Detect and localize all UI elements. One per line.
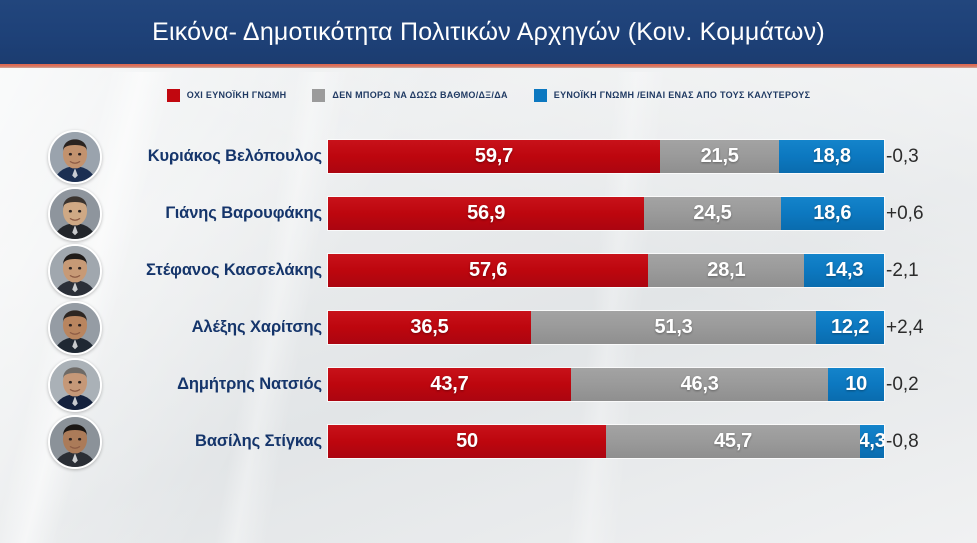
person-name: Βασίλης Στίγκας bbox=[110, 432, 322, 451]
bar-segment-negative: 43,7 bbox=[328, 368, 571, 401]
chart-row: Βασίλης Στίγκας5045,74,3-0,8 bbox=[0, 413, 977, 470]
stacked-bar: 57,628,114,3 bbox=[328, 254, 884, 287]
bar-segment-neutral: 28,1 bbox=[648, 254, 804, 287]
stacked-bar: 59,721,518,8 bbox=[328, 140, 884, 173]
bar-segment-positive: 10 bbox=[828, 368, 884, 401]
bar-segment-value: 50 bbox=[456, 430, 478, 453]
legend-swatch-icon bbox=[534, 89, 547, 102]
legend-label: ΔΕΝ ΜΠΟΡΩ ΝΑ ΔΩΣΩ ΒΑΘΜΟ/ΔΞ/ΔΑ bbox=[332, 90, 507, 100]
chart-row: Δημήτρης Νατσιός43,746,310-0,2 bbox=[0, 356, 977, 413]
bar-segment-value: 18,6 bbox=[813, 202, 851, 225]
legend-item-2: ΕΥΝΟΪΚΗ ΓΝΩΜΗ /ΕΙΝΑΙ ΕΝΑΣ ΑΠΟ ΤΟΥΣ ΚΑΛΥΤ… bbox=[534, 89, 811, 102]
bar-segment-neutral: 24,5 bbox=[644, 197, 780, 230]
avatar bbox=[48, 244, 102, 298]
bar-segment-positive: 18,8 bbox=[779, 140, 884, 173]
bar-segment-negative: 59,7 bbox=[328, 140, 660, 173]
chart-legend: ΟΧΙ ΕΥΝΟΪΚΗ ΓΝΩΜΗΔΕΝ ΜΠΟΡΩ ΝΑ ΔΩΣΩ ΒΑΘΜΟ… bbox=[0, 85, 977, 105]
bar-segment-positive: 18,6 bbox=[781, 197, 884, 230]
bar-segment-value: 57,6 bbox=[469, 259, 507, 282]
bar-segment-value: 12,2 bbox=[831, 316, 869, 339]
bar-segment-value: 36,5 bbox=[410, 316, 448, 339]
bar-segment-negative: 36,5 bbox=[328, 311, 531, 344]
person-name: Στέφανος Κασσελάκης bbox=[110, 261, 322, 280]
bar-segment-value: 10 bbox=[845, 373, 867, 396]
delta-value: -0,8 bbox=[886, 431, 919, 453]
bar-segment-value: 56,9 bbox=[467, 202, 505, 225]
bar-segment-positive: 4,3 bbox=[860, 425, 884, 458]
legend-label: ΕΥΝΟΪΚΗ ΓΝΩΜΗ /ΕΙΝΑΙ ΕΝΑΣ ΑΠΟ ΤΟΥΣ ΚΑΛΥΤ… bbox=[554, 90, 811, 100]
avatar bbox=[48, 415, 102, 469]
bar-segment-value: 24,5 bbox=[693, 202, 731, 225]
chart-rows: Κυριάκος Βελόπουλος59,721,518,8-0,3Γιάνη… bbox=[0, 128, 977, 470]
bar-segment-neutral: 51,3 bbox=[531, 311, 816, 344]
avatar bbox=[48, 358, 102, 412]
chart-row: Αλέξης Χαρίτσης36,551,312,2+2,4 bbox=[0, 299, 977, 356]
legend-item-0: ΟΧΙ ΕΥΝΟΪΚΗ ΓΝΩΜΗ bbox=[167, 89, 287, 102]
legend-swatch-icon bbox=[312, 89, 325, 102]
bar-segment-value: 28,1 bbox=[707, 259, 745, 282]
person-name: Γιάνης Βαρουφάκης bbox=[110, 204, 322, 223]
bar-segment-value: 14,3 bbox=[825, 259, 863, 282]
person-name: Δημήτρης Νατσιός bbox=[110, 375, 322, 394]
bar-segment-positive: 14,3 bbox=[804, 254, 884, 287]
bar-segment-neutral: 45,7 bbox=[606, 425, 860, 458]
delta-value: -0,3 bbox=[886, 146, 919, 168]
chart-row: Γιάνης Βαρουφάκης56,924,518,6+0,6 bbox=[0, 185, 977, 242]
bar-segment-negative: 57,6 bbox=[328, 254, 648, 287]
bar-segment-value: 43,7 bbox=[430, 373, 468, 396]
bar-segment-value: 59,7 bbox=[475, 145, 513, 168]
delta-value: -0,2 bbox=[886, 374, 919, 396]
bar-segment-value: 18,8 bbox=[813, 145, 851, 168]
legend-item-1: ΔΕΝ ΜΠΟΡΩ ΝΑ ΔΩΣΩ ΒΑΘΜΟ/ΔΞ/ΔΑ bbox=[312, 89, 507, 102]
avatar bbox=[48, 187, 102, 241]
title-bar: Εικόνα- Δημοτικότητα Πολιτικών Αρχηγών (… bbox=[0, 0, 977, 64]
bar-segment-negative: 50 bbox=[328, 425, 606, 458]
stacked-bar: 36,551,312,2 bbox=[328, 311, 884, 344]
bar-segment-value: 46,3 bbox=[681, 373, 719, 396]
delta-value: -2,1 bbox=[886, 260, 919, 282]
legend-swatch-icon bbox=[167, 89, 180, 102]
legend-label: ΟΧΙ ΕΥΝΟΪΚΗ ΓΝΩΜΗ bbox=[187, 90, 287, 100]
title-accent-divider bbox=[0, 64, 977, 68]
bar-segment-neutral: 21,5 bbox=[660, 140, 780, 173]
bar-segment-value: 21,5 bbox=[701, 145, 739, 168]
person-name: Κυριάκος Βελόπουλος bbox=[110, 147, 322, 166]
avatar bbox=[48, 130, 102, 184]
bar-segment-value: 51,3 bbox=[654, 316, 692, 339]
delta-value: +2,4 bbox=[886, 317, 924, 339]
bar-segment-positive: 12,2 bbox=[816, 311, 884, 344]
bar-segment-value: 45,7 bbox=[714, 430, 752, 453]
avatar bbox=[48, 301, 102, 355]
page-title: Εικόνα- Δημοτικότητα Πολιτικών Αρχηγών (… bbox=[152, 18, 825, 47]
bar-segment-value: 4,3 bbox=[860, 430, 884, 453]
stacked-bar: 43,746,310 bbox=[328, 368, 884, 401]
bar-segment-neutral: 46,3 bbox=[571, 368, 828, 401]
delta-value: +0,6 bbox=[886, 203, 924, 225]
stacked-bar: 5045,74,3 bbox=[328, 425, 884, 458]
chart-row: Κυριάκος Βελόπουλος59,721,518,8-0,3 bbox=[0, 128, 977, 185]
stacked-bar: 56,924,518,6 bbox=[328, 197, 884, 230]
chart-row: Στέφανος Κασσελάκης57,628,114,3-2,1 bbox=[0, 242, 977, 299]
chart-canvas: Εικόνα- Δημοτικότητα Πολιτικών Αρχηγών (… bbox=[0, 0, 977, 543]
person-name: Αλέξης Χαρίτσης bbox=[110, 318, 322, 337]
bar-segment-negative: 56,9 bbox=[328, 197, 644, 230]
